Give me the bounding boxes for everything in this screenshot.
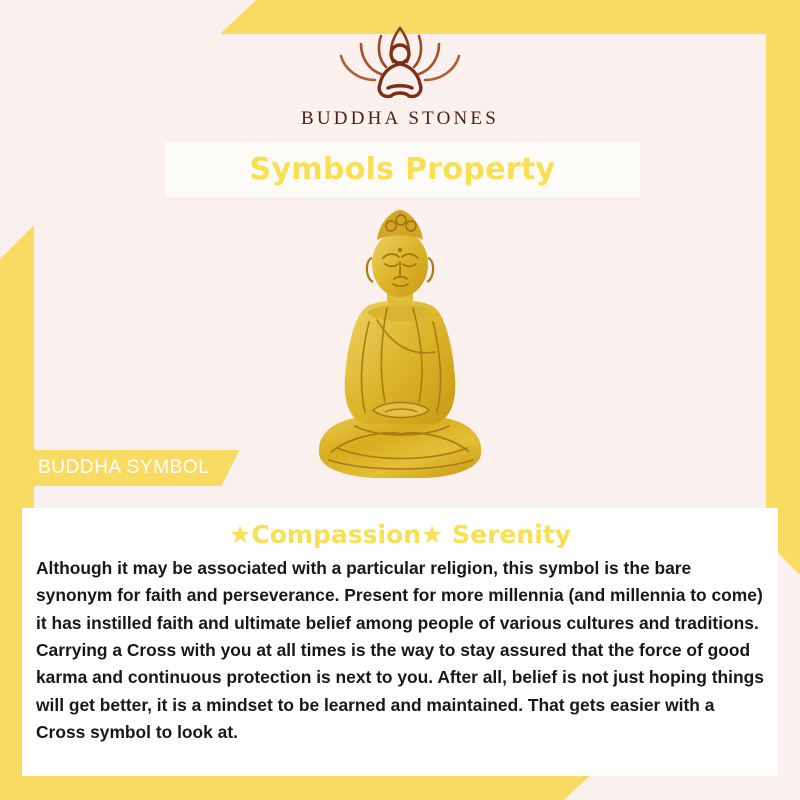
headline-word-compassion: Compassion bbox=[251, 520, 421, 549]
title-banner: Symbols Property bbox=[165, 142, 640, 197]
content-card: ★Compassion★ Serenity Although it may be… bbox=[22, 508, 778, 776]
seated-buddha-statue-icon bbox=[307, 196, 493, 496]
buddha-symbol-tag: BUDDHA SYMBOL bbox=[18, 450, 239, 486]
star-icon-middle: ★ bbox=[421, 520, 443, 549]
page-title: Symbols Property bbox=[250, 152, 556, 187]
brand-logo: BUDDHA STONES bbox=[0, 22, 800, 130]
star-icon-left: ★ bbox=[229, 520, 251, 549]
lotus-meditation-icon bbox=[325, 22, 475, 104]
buddha-symbol-tag-label: BUDDHA SYMBOL bbox=[38, 457, 209, 479]
content-paragraph: Although it may be associated with a par… bbox=[36, 555, 764, 746]
brand-name: BUDDHA STONES bbox=[301, 108, 499, 130]
headline-word-serenity: Serenity bbox=[452, 520, 571, 549]
poster-page: BUDDHA STONES Symbols Property bbox=[0, 0, 800, 800]
content-headline: ★Compassion★ Serenity bbox=[22, 520, 778, 549]
